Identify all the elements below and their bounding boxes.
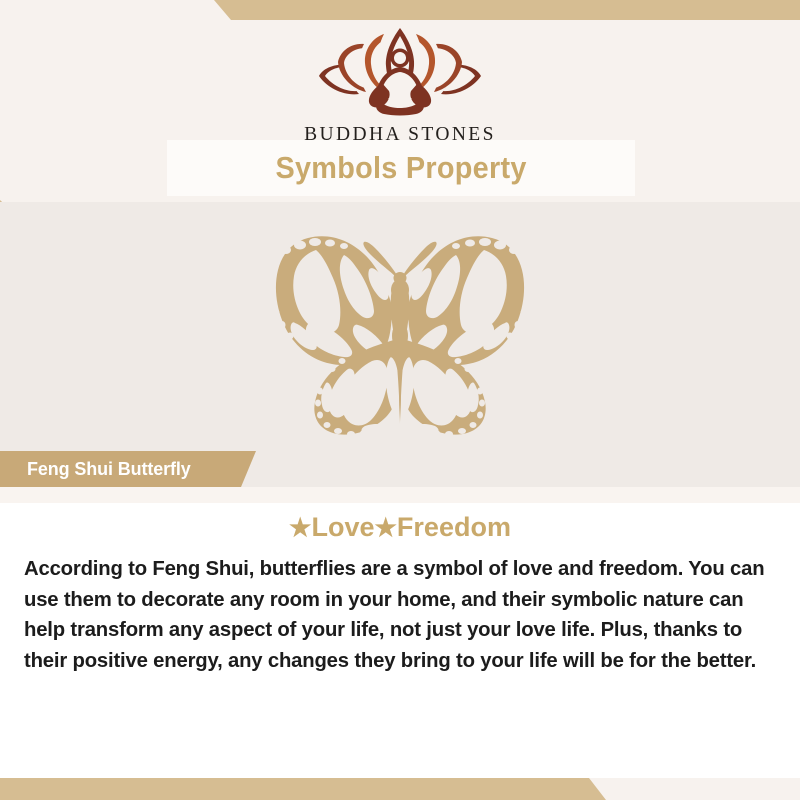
star-left-icon: ★ xyxy=(289,514,311,542)
tagline-word-freedom: Freedom xyxy=(397,512,511,542)
star-middle-icon: ★ xyxy=(375,514,397,542)
tagline-word-love: Love xyxy=(311,512,374,542)
page-root: BUDDHA STONES Symbols Property xyxy=(0,0,800,800)
butterfly-icon xyxy=(220,228,580,443)
lotus-meditation-figure-icon xyxy=(275,26,525,123)
feng-shui-banner: Feng Shui Butterfly xyxy=(0,451,256,487)
article-paragraph: According to Feng Shui, butterflies are … xyxy=(24,554,778,676)
top-right-gold-band xyxy=(0,0,800,20)
tagline: ★Love★Freedom xyxy=(0,512,800,543)
bottom-gold-band xyxy=(0,778,800,800)
article-section: ★Love★Freedom According to Feng Shui, bu… xyxy=(0,503,800,778)
feng-shui-banner-label: Feng Shui Butterfly xyxy=(27,458,191,480)
brand-logo: BUDDHA STONES xyxy=(275,26,525,146)
title-plaque: Symbols Property xyxy=(167,140,635,196)
header: BUDDHA STONES xyxy=(0,20,800,140)
cream-divider-strip xyxy=(0,487,800,503)
page-title: Symbols Property xyxy=(275,150,526,186)
hero-panel xyxy=(0,202,800,487)
